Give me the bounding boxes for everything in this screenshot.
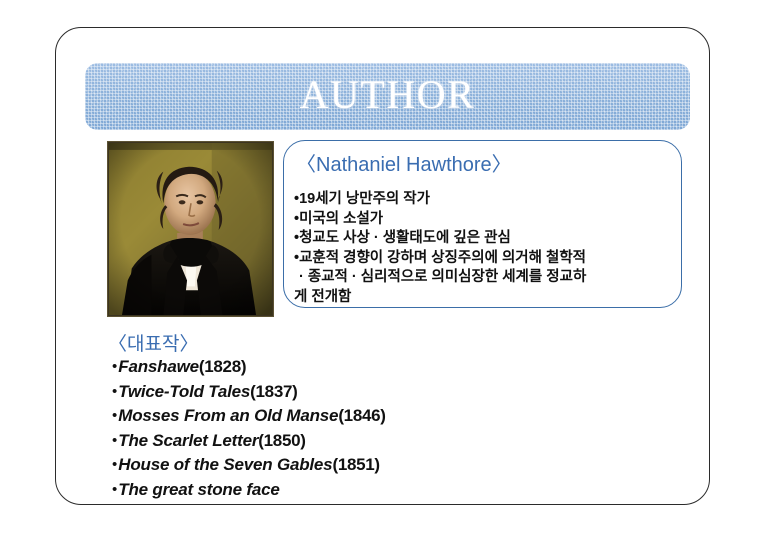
work-year: (1837): [250, 382, 297, 401]
author-portrait-image: [107, 141, 274, 317]
bio-bullet-item: •19세기 낭만주의 작가: [294, 190, 684, 210]
bullet-icon: •: [112, 481, 117, 498]
bio-bullet-list: •19세기 낭만주의 작가 •미국의 소설가 •청교도 사상 · 생활태도에 깊…: [294, 190, 684, 307]
bio-bullet-item: •청교도 사상 · 생활태도에 깊은 관심: [294, 229, 684, 249]
work-year: (1850): [258, 431, 305, 450]
work-title: Fanshawe: [118, 357, 199, 376]
bullet-icon: •: [112, 432, 117, 449]
bio-bullet-item: •교훈적 경향이 강하며 상징주의에 의거해 철학적: [294, 249, 684, 269]
work-title: Mosses From an Old Manse: [118, 406, 338, 425]
work-title: The great stone face: [118, 480, 279, 499]
bio-bullet-continuation: 게 전개함: [294, 288, 684, 308]
title-banner: AUTHOR: [85, 63, 690, 130]
works-heading: 〈대표작〉: [108, 329, 198, 356]
work-title: Twice-Told Tales: [118, 382, 250, 401]
bullet-icon: •: [112, 407, 117, 424]
list-item: •Twice-Told Tales(1837): [112, 380, 632, 405]
work-year: (1846): [338, 406, 385, 425]
work-year: (1828): [199, 357, 246, 376]
list-item: •The Scarlet Letter(1850): [112, 429, 632, 454]
bullet-icon: •: [112, 456, 117, 473]
page-title: AUTHOR: [300, 75, 476, 115]
bio-heading: 〈Nathaniel Hawthore〉: [296, 148, 512, 177]
bio-bullet-continuation: · 종교적 · 심리적으로 의미심장한 세계를 정교하: [294, 268, 684, 288]
bullet-icon: •: [112, 358, 117, 375]
list-item: •The great stone face: [112, 478, 632, 503]
work-title: The Scarlet Letter: [118, 431, 258, 450]
author-portrait: [107, 141, 274, 317]
list-item: •House of the Seven Gables(1851): [112, 453, 632, 478]
bio-bullet-item: •미국의 소설가: [294, 210, 684, 230]
list-item: •Fanshawe(1828): [112, 355, 632, 380]
work-title: House of the Seven Gables: [118, 455, 332, 474]
list-item: •Mosses From an Old Manse(1846): [112, 404, 632, 429]
slide-canvas: AUTHOR: [0, 0, 760, 537]
work-year: (1851): [332, 455, 379, 474]
bullet-icon: •: [112, 383, 117, 400]
works-list: •Fanshawe(1828) •Twice-Told Tales(1837) …: [112, 355, 632, 502]
